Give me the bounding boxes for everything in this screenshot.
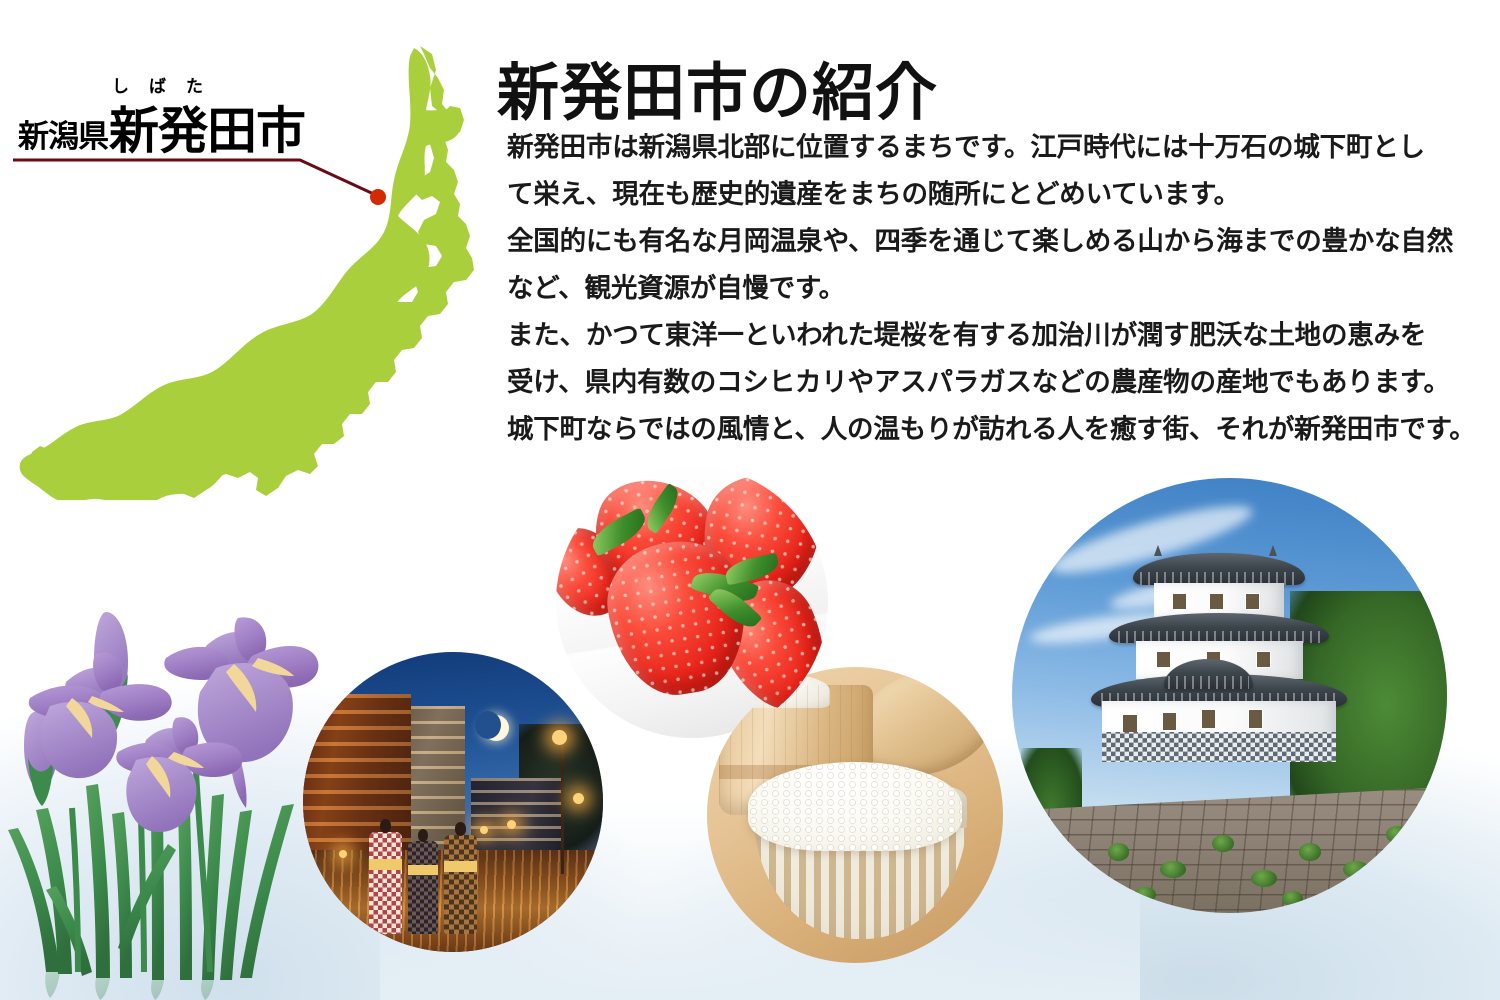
body-line: など、観光資源が自慢です。 (507, 265, 1472, 312)
onsen-town-photo (303, 652, 603, 952)
iris-flowers-illustration (0, 600, 330, 1000)
body-line: 新発田市は新潟県北部に位置するまちです。江戸時代には十万石の城下町とし (507, 124, 1472, 171)
city-label: 新発田市 (109, 102, 305, 160)
shibata-castle-photo (1012, 478, 1447, 913)
body-line: て栄え、現在も歴史的遺産をまちの随所にとどめいています。 (507, 171, 1472, 218)
poster-canvas: 新潟県 しばた 新発田市 新発田市の紹介 新発田市は新潟県北部に位置するまちです… (0, 0, 1500, 1000)
intro-body-text: 新発田市は新潟県北部に位置するまちです。江戸時代には十万石の城下町とし て栄え、… (507, 124, 1472, 453)
prefecture-label: 新潟県 (18, 122, 108, 156)
page-title: 新発田市の紹介 (497, 60, 938, 125)
rice-bowl-photo (707, 667, 1003, 963)
body-line: また、かつて東洋一といわれた堤桜を有する加治川が潤す肥沃な土地の恵みを (507, 312, 1472, 359)
city-furigana: しばた (112, 79, 308, 96)
body-line: 全国的にも有名な月岡温泉や、四季を通じて楽しめる山から海までの豊かな自然 (507, 218, 1472, 265)
body-line: 城下町ならではの風情と、人の温もりが訪れる人を癒す街、それが新発田市です。 (507, 406, 1472, 453)
body-line: 受け、県内有数のコシヒカリやアスパラガスなどの農産物の産地でもあります。 (507, 359, 1472, 406)
map-label-block: 新潟県 しばた 新発田市 (10, 70, 340, 180)
